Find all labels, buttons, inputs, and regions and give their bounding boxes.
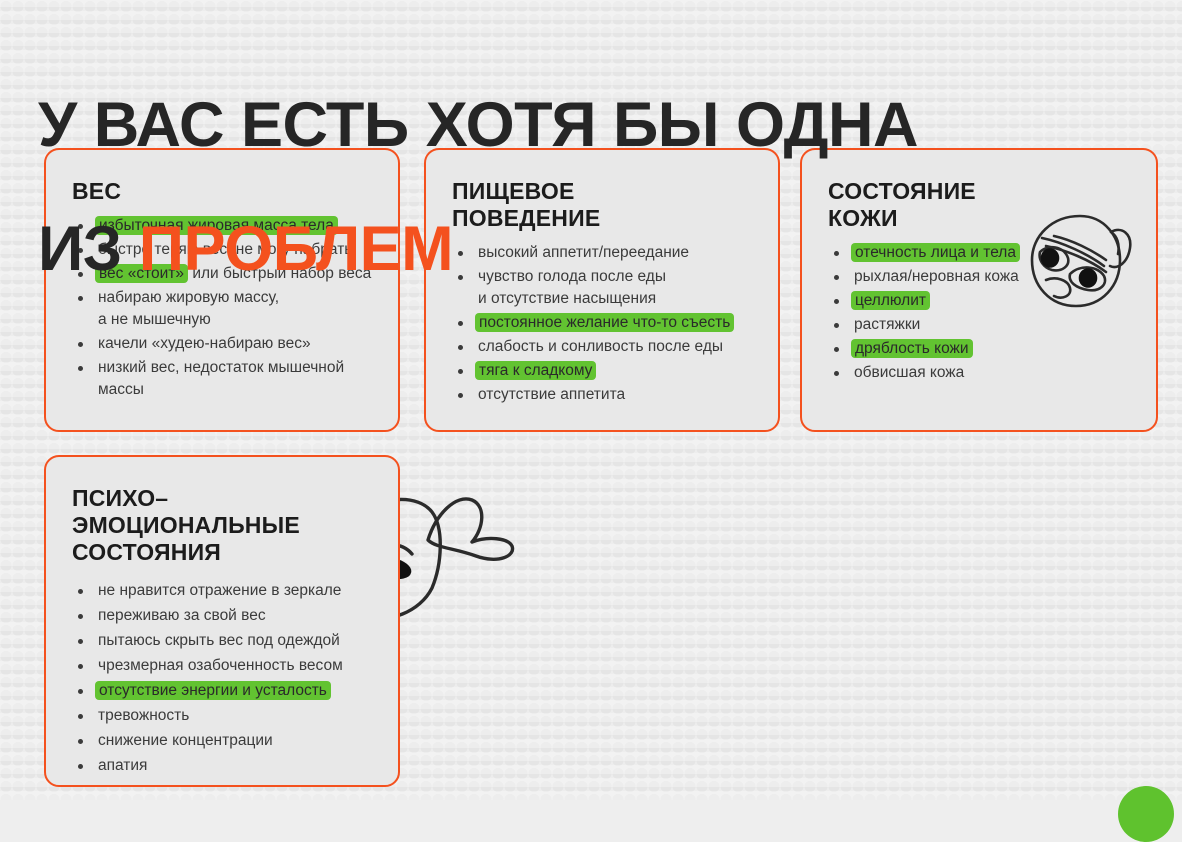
list-item-text: переживаю за свой вес bbox=[98, 607, 266, 624]
page-title-line-2: ИЗ ПРОБЛЕМ bbox=[38, 218, 1138, 280]
card-psycho-emotional-title: ПСИХО– ЭМОЦИОНАЛЬНЫЕ СОСТОЯНИЯ bbox=[46, 457, 398, 566]
list-item: обвисшая кожа bbox=[828, 362, 1156, 384]
list-item-text: снижение концентрации bbox=[98, 732, 273, 749]
list-item: чрезмерная озабоченность весом bbox=[72, 655, 398, 677]
list-item-text: апатия bbox=[98, 757, 147, 774]
list-item-text-highlighted: отсутствие энергии и усталость bbox=[95, 681, 331, 700]
green-circle-accent bbox=[1118, 786, 1174, 842]
list-item: тревожность bbox=[72, 705, 398, 727]
page-title-line-1: У ВАС ЕСТЬ ХОТЯ БЫ ОДНА bbox=[38, 94, 1138, 156]
list-item: снижение концентрации bbox=[72, 730, 398, 752]
list-item-text: отсутствие аппетита bbox=[478, 386, 625, 403]
list-item-text: низкий вес, недостаток мышечной массы bbox=[98, 359, 344, 398]
list-item-text: обвисшая кожа bbox=[854, 364, 964, 381]
list-item-text: чрезмерная озабоченность весом bbox=[98, 657, 343, 674]
card-psycho-emotional-list: не нравится отражение в зеркале пережива… bbox=[46, 566, 398, 777]
list-item: переживаю за свой вес bbox=[72, 605, 398, 627]
list-item: пытаюсь скрыть вес под одеждой bbox=[72, 630, 398, 652]
page-title-line-2-plain: ИЗ bbox=[38, 214, 139, 284]
list-item-text: не нравится отражение в зеркале bbox=[98, 582, 341, 599]
list-item: низкий вес, недостаток мышечной массы bbox=[72, 357, 398, 401]
list-item-text-highlighted: тяга к сладкому bbox=[475, 361, 596, 380]
list-item-text: пытаюсь скрыть вес под одеждой bbox=[98, 632, 340, 649]
list-item: отсутствие энергии и усталость bbox=[72, 680, 398, 702]
list-item-text: тревожность bbox=[98, 707, 189, 724]
list-item: апатия bbox=[72, 755, 398, 777]
list-item: тяга к сладкому bbox=[452, 360, 778, 382]
list-item: не нравится отражение в зеркале bbox=[72, 580, 398, 602]
list-item: отсутствие аппетита bbox=[452, 384, 778, 406]
page-title: У ВАС ЕСТЬ ХОТЯ БЫ ОДНА ИЗ ПРОБЛЕМ bbox=[38, 32, 1138, 342]
card-psycho-emotional: ПСИХО– ЭМОЦИОНАЛЬНЫЕ СОСТОЯНИЯ не нравит… bbox=[44, 455, 400, 787]
page-title-accent-word: ПРОБЛЕМ bbox=[139, 214, 453, 284]
